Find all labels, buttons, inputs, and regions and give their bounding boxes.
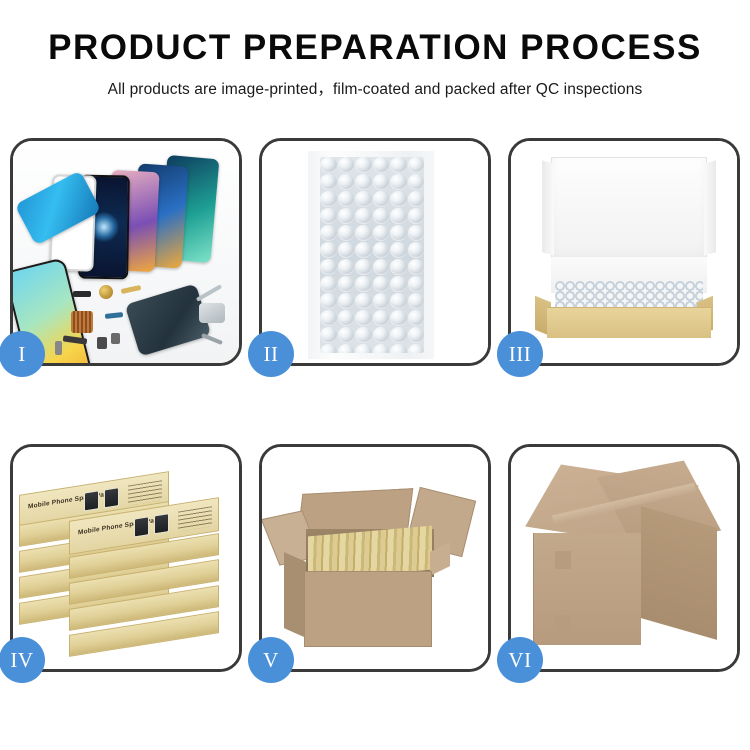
bubble-cell: [373, 191, 390, 207]
bubble-wrap-scene: [262, 141, 488, 363]
bubble-cell: [408, 174, 425, 190]
kraft-box-spec-lines: [178, 506, 212, 531]
bubble-cell: [338, 344, 355, 353]
bubble-cell: [320, 327, 337, 343]
bubble-cell: [373, 276, 390, 292]
bubble-cell: [390, 276, 407, 292]
step-panel-3: III: [508, 138, 740, 366]
inner-box-bubble-contents: [555, 281, 703, 309]
step-image-5: [262, 447, 488, 669]
bubble-cell: [355, 242, 372, 258]
bubble-cell: [373, 293, 390, 309]
bubble-cell: [373, 242, 390, 258]
bubble-cell: [408, 191, 425, 207]
bubble-cell: [408, 208, 425, 224]
inner-box-front: [547, 307, 711, 338]
sealed-carton-scene: [511, 447, 737, 669]
bubble-cell: [355, 310, 372, 326]
step-badge-5: V: [248, 637, 294, 683]
spare-part-coil: [99, 285, 113, 299]
bubble-cell: [408, 157, 425, 173]
step-image-4: Mobile Phone Spare PartsMobile Phone Spa…: [13, 447, 239, 669]
step-image-3: [511, 141, 737, 363]
step-panel-1: I: [10, 138, 242, 366]
step-badge-6: VI: [497, 637, 543, 683]
bubble-cell: [320, 157, 337, 173]
bubble-cell: [320, 344, 337, 353]
spare-part-speaker: [111, 333, 120, 344]
bubble-cell: [338, 208, 355, 224]
step-badge-1: I: [0, 331, 45, 377]
bubble-cell: [320, 174, 337, 190]
bubble-cell: [408, 310, 425, 326]
bubble-cell: [355, 293, 372, 309]
step-image-6: [511, 447, 737, 669]
sealed-carton-front: [533, 533, 641, 645]
step-panel-5: V: [259, 444, 491, 672]
bubble-cell: [338, 157, 355, 173]
bubble-cell: [338, 174, 355, 190]
bubble-cell: [355, 344, 372, 353]
bubble-cell: [320, 208, 337, 224]
kraft-box-phone-image: [154, 513, 169, 534]
page-header: PRODUCT PREPARATION PROCESS All products…: [0, 0, 750, 99]
bubble-cell: [320, 276, 337, 292]
bubble-cell: [408, 293, 425, 309]
box-stack-scene: Mobile Phone Spare PartsMobile Phone Spa…: [13, 447, 239, 669]
bubble-cell: [408, 327, 425, 343]
bubble-wrap-bubbles: [320, 157, 424, 353]
step-panel-4: Mobile Phone Spare PartsMobile Phone Spa…: [10, 444, 242, 672]
step-badge-3: III: [497, 331, 543, 377]
step-panel-2: II: [259, 138, 491, 366]
spare-part-button: [55, 341, 62, 355]
bubble-cell: [355, 259, 372, 275]
bubble-cell: [320, 293, 337, 309]
bubble-cell: [390, 174, 407, 190]
sealed-carton-side: [641, 506, 717, 640]
repair-tool-hand: [199, 303, 225, 323]
kraft-box-label: Mobile Phone Spare Parts: [78, 516, 163, 536]
page-subtitle: All products are image-printed，film-coat…: [0, 77, 750, 99]
process-steps-grid: I II III Mobile Phone Spare Par: [10, 138, 740, 672]
bubble-cell: [355, 276, 372, 292]
bubble-cell: [373, 259, 390, 275]
spare-part-grid-board: [71, 311, 93, 333]
bubble-cell: [408, 259, 425, 275]
products-scene: [13, 141, 239, 363]
sealed-carton-tab-bottom: [555, 615, 571, 633]
spare-part-connector: [73, 291, 91, 297]
bubble-cell: [338, 259, 355, 275]
bubble-cell: [355, 174, 372, 190]
bubble-cell: [408, 344, 425, 353]
bubble-cell: [373, 157, 390, 173]
bubble-cell: [390, 327, 407, 343]
bubble-cell: [373, 344, 390, 353]
carton-side-left: [284, 552, 306, 638]
bubble-cell: [408, 276, 425, 292]
bubble-cell: [338, 327, 355, 343]
bubble-cell: [373, 174, 390, 190]
bubble-cell: [338, 310, 355, 326]
bubble-cell: [390, 259, 407, 275]
page-title: PRODUCT PREPARATION PROCESS: [0, 30, 750, 67]
bubble-cell: [373, 310, 390, 326]
bubble-cell: [320, 191, 337, 207]
open-carton-scene: [262, 447, 488, 669]
repair-tool-screw: [201, 333, 223, 345]
spare-part-flex-cable: [121, 285, 142, 294]
bubble-cell: [390, 293, 407, 309]
spare-part-blue-flex: [105, 312, 123, 319]
spare-part-module: [97, 337, 107, 349]
step-panel-6: VI: [508, 444, 740, 672]
bubble-cell: [320, 310, 337, 326]
bubble-cell: [408, 242, 425, 258]
bubble-cell: [373, 327, 390, 343]
bubble-cell: [320, 225, 337, 241]
repair-tool-tweezer: [196, 284, 222, 301]
bubble-cell: [408, 225, 425, 241]
bubble-cell: [373, 208, 390, 224]
step-image-2: [262, 141, 488, 363]
bubble-cell: [338, 225, 355, 241]
kraft-box-phone-image: [104, 487, 119, 508]
bubble-cell: [355, 191, 372, 207]
bubble-cell: [338, 293, 355, 309]
bubble-cell: [390, 242, 407, 258]
bubble-cell: [355, 208, 372, 224]
bubble-cell: [338, 276, 355, 292]
bubble-cell: [320, 242, 337, 258]
kraft-box-label: Mobile Phone Spare Parts: [28, 490, 113, 510]
bubble-cell: [355, 327, 372, 343]
step-badge-4: IV: [0, 637, 45, 683]
carton-front-face: [304, 571, 432, 647]
bubble-cell: [355, 157, 372, 173]
bubble-cell: [390, 191, 407, 207]
inner-box-scene: [511, 141, 737, 363]
bubble-cell: [390, 225, 407, 241]
bubble-cell: [338, 242, 355, 258]
bubble-cell: [338, 191, 355, 207]
kraft-box-phone-image: [84, 490, 99, 511]
bubble-cell: [390, 208, 407, 224]
bubble-cell: [355, 225, 372, 241]
kraft-box-phone-image: [134, 516, 149, 537]
bubble-cell: [390, 310, 407, 326]
bubble-cell: [390, 344, 407, 353]
inner-box-lid: [551, 157, 707, 263]
bubble-cell: [390, 157, 407, 173]
kraft-box-spec-lines: [128, 480, 162, 505]
bubble-cell: [373, 225, 390, 241]
sealed-carton-tab-top: [555, 551, 571, 569]
step-image-1: [13, 141, 239, 363]
step-badge-2: II: [248, 331, 294, 377]
bubble-cell: [320, 259, 337, 275]
